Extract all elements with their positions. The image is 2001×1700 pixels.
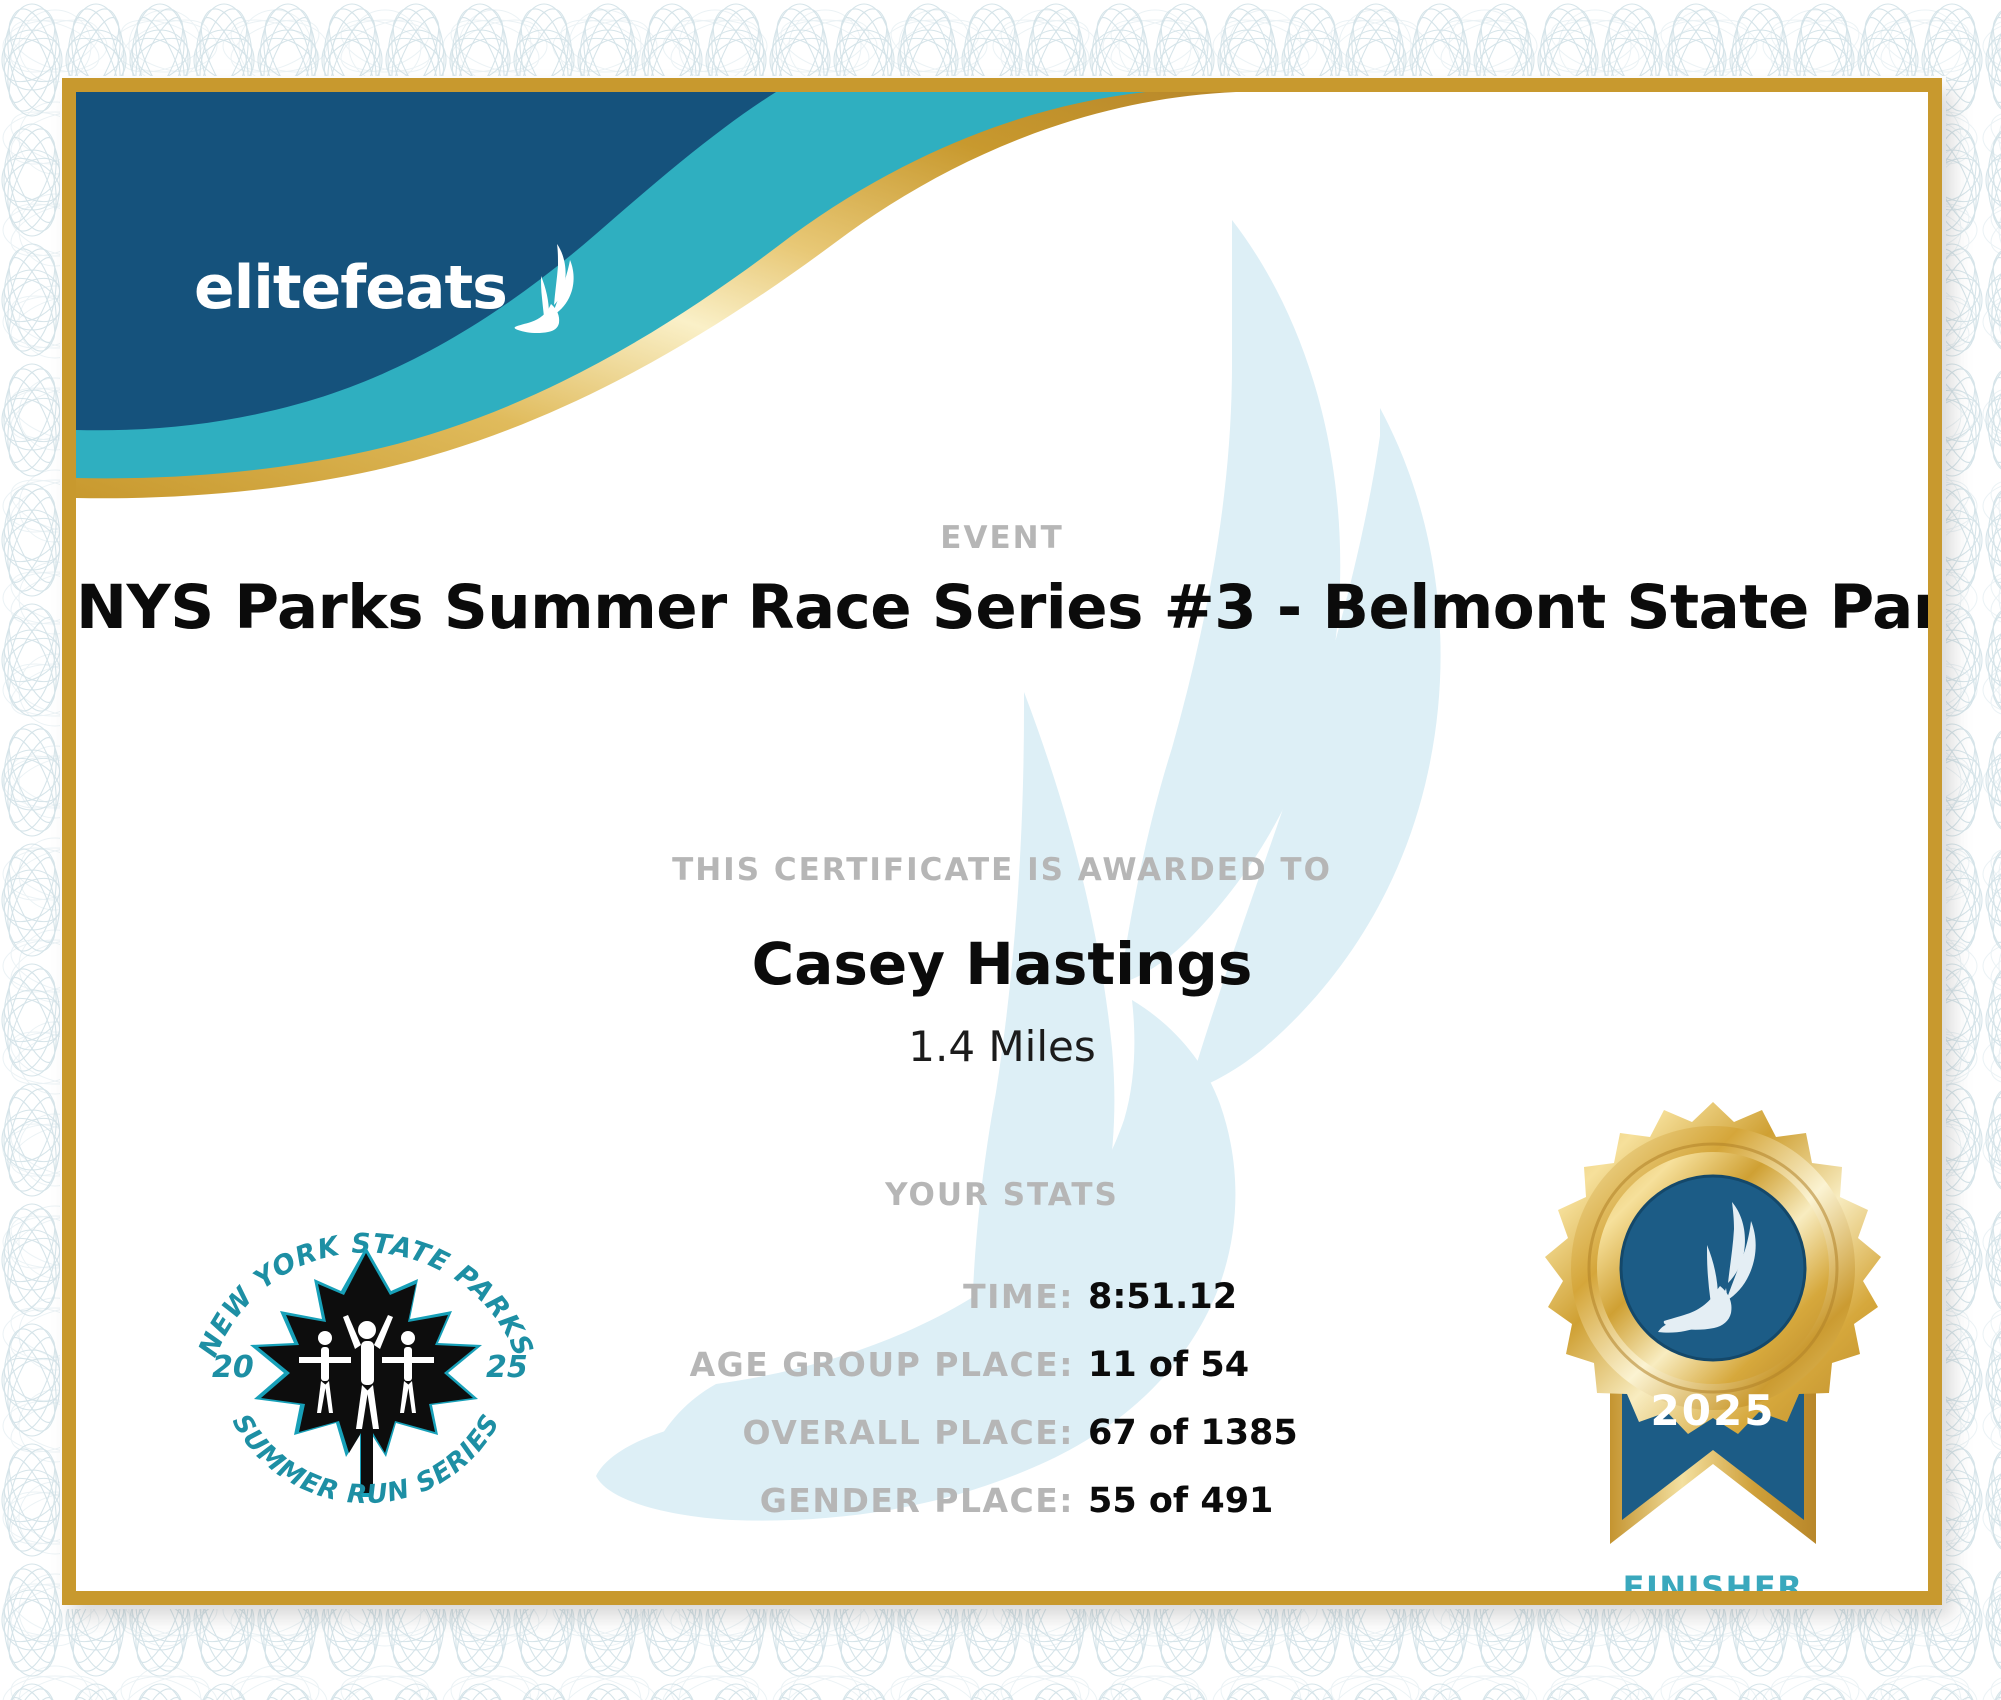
medal-caption: FINISHER CERTIFICATE: [1518, 1570, 1908, 1591]
event-label: EVENT: [76, 520, 1928, 556]
nys-logo-year-right: 25: [486, 1350, 528, 1385]
stat-value-age-group-place: 11 of 54: [1088, 1345, 1249, 1385]
nys-parks-summer-run-series-logo: NEW YORK STATE PARKS: [186, 1167, 546, 1547]
finisher-medal-badge: 2025: [1518, 1092, 1908, 1591]
recipient-name: Casey Hastings: [76, 930, 1928, 998]
recipient-distance: 1.4 Miles: [76, 1022, 1928, 1071]
medal-year: 2025: [1651, 1386, 1776, 1435]
stat-value-overall-place: 67 of 1385: [1088, 1413, 1298, 1453]
stat-value-gender-place: 55 of 491: [1088, 1481, 1273, 1521]
awarded-to-label: THIS CERTIFICATE IS AWARDED TO: [76, 852, 1928, 888]
nys-logo-year-left: 20: [212, 1350, 254, 1385]
event-title: NYS Parks Summer Race Series #3 - Belmon…: [76, 572, 1928, 643]
medal-caption-line1: FINISHER: [1518, 1570, 1908, 1591]
certificate-inner: elitefeats EVENT NYS Parks Summer Race S…: [76, 92, 1928, 1591]
stat-value-time: 8:51.12: [1088, 1277, 1237, 1317]
certificate-card: elitefeats EVENT NYS Parks Summer Race S…: [62, 78, 1942, 1605]
